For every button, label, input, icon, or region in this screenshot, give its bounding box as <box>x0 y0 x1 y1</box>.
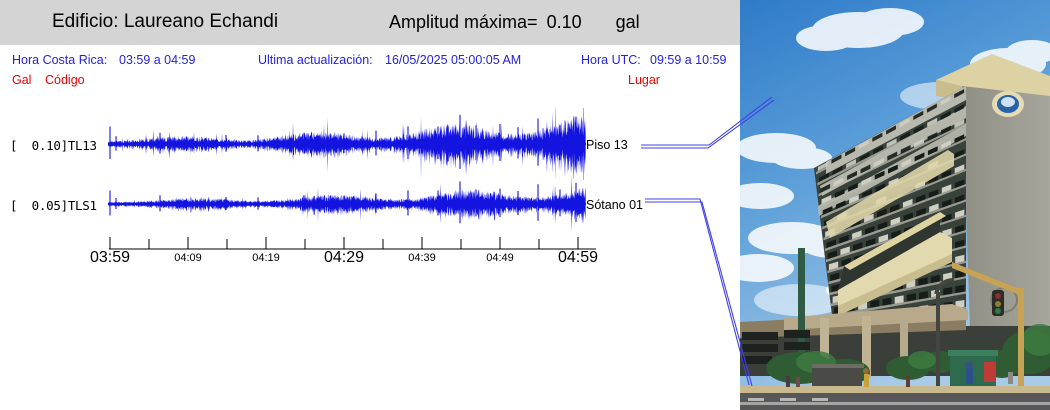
waveform-tls1[interactable] <box>108 168 586 240</box>
trace-label-tls1: [ 0.05]TLS1 <box>10 198 97 213</box>
page-title: Edificio: Laureano Echandi <box>52 11 278 33</box>
seismograph-monitor-window: Edificio: Laureano Echandi Amplitud máxi… <box>0 0 1050 410</box>
trace-amplitude-tl13: [ 0.10] <box>10 138 68 153</box>
utc-time-value: 09:59 a 10:59 <box>650 53 726 67</box>
title-bar: Edificio: Laureano Echandi Amplitud máxi… <box>0 0 740 45</box>
building-photo <box>740 0 1050 410</box>
time-tick-04-09: 04:09 <box>174 252 202 264</box>
trace-label-tl13: [ 0.10]TL13 <box>10 138 97 153</box>
time-tick-04-49: 04:49 <box>486 252 514 264</box>
building-label: Edificio: <box>52 11 119 32</box>
building-name: Laureano Echandi <box>124 11 278 32</box>
time-axis: 03:5904:0904:1904:2904:3904:4904:59 <box>0 236 740 272</box>
seismogram-panel: Edificio: Laureano Echandi Amplitud máxi… <box>0 0 740 410</box>
utc-time-label: Hora UTC: <box>581 53 641 67</box>
place-column-header: Lugar <box>628 73 660 87</box>
last-update-label: Ultima actualización: <box>258 53 373 67</box>
local-time-value: 03:59 a 04:59 <box>119 53 195 67</box>
max-amplitude-unit: gal <box>616 12 640 32</box>
trace-location-tls1: Sótano 01 <box>586 198 643 212</box>
trace-code-tl13: TL13 <box>68 138 97 153</box>
local-time-label: Hora Costa Rica: <box>12 53 107 67</box>
trace-location-tl13: Piso 13 <box>586 138 628 152</box>
time-tick-04-19: 04:19 <box>252 252 280 264</box>
time-tick-03-59: 03:59 <box>90 249 130 267</box>
time-tick-04-39: 04:39 <box>408 252 436 264</box>
max-amplitude-label: Amplitud máxima= <box>389 12 538 32</box>
max-amplitude-readout: Amplitud máxima=0.10gal <box>389 12 640 33</box>
trace-amplitude-tls1: [ 0.05] <box>10 198 68 213</box>
time-tick-04-59: 04:59 <box>558 249 598 267</box>
code-column-header: Código <box>45 73 85 87</box>
gal-column-header: Gal <box>12 73 31 87</box>
time-tick-04-29: 04:29 <box>324 249 364 267</box>
trace-code-tls1: TLS1 <box>68 198 97 213</box>
building-photo-image <box>740 0 1050 410</box>
max-amplitude-value: 0.10 <box>547 12 582 32</box>
last-update-value: 16/05/2025 05:00:05 AM <box>385 53 521 67</box>
